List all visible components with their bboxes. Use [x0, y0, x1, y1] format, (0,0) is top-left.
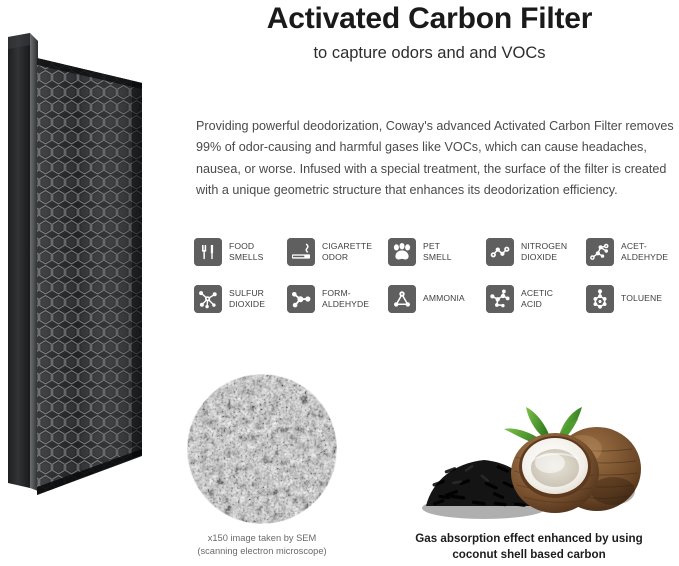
sem-caption: x150 image taken by SEM (scanning electr…: [179, 532, 345, 557]
pollutant-item-nitrogen-dioxide: NITROGEN DIOXIDE: [486, 238, 586, 266]
sem-micrograph-image: [186, 373, 338, 525]
pollutant-label: SULFUR DIOXIDE: [229, 288, 265, 311]
pollutant-item-cigarette-odor: CIGARETTE ODOR: [287, 238, 388, 266]
pollutant-grid: FOOD SMELLS CIGARETTE ODOR: [194, 238, 679, 332]
pollutant-label: TOLUENE: [621, 293, 662, 305]
acetaldehyde-molecule-icon: [586, 238, 614, 266]
pollutant-label: FOOD SMELLS: [229, 241, 264, 264]
pollutant-label: AMMONIA: [423, 293, 465, 305]
pollutant-item-acetaldehyde: ACET- ALDEHYDE: [586, 238, 679, 266]
page-title: Activated Carbon Filter: [180, 0, 679, 37]
coconut-caption: Gas absorption effect enhanced by using …: [398, 531, 660, 562]
pollutant-item-toluene: TOLUENE: [586, 285, 679, 313]
page-subtitle: to capture odors and and VOCs: [180, 37, 679, 64]
pollutant-label: FORM- ALDEHYDE: [322, 288, 369, 311]
headline-block: Activated Carbon Filter to capture odors…: [180, 0, 679, 64]
ammonia-molecule-icon: [388, 285, 416, 313]
formaldehyde-molecule-icon: [287, 285, 315, 313]
nitrogen-dioxide-molecule-icon: [486, 238, 514, 266]
paw-icon: [388, 238, 416, 266]
cigarette-icon: [287, 238, 315, 266]
pollutant-item-acetic-acid: ACETIC ACID: [486, 285, 586, 313]
pollutant-label: ACET- ALDEHYDE: [621, 241, 668, 264]
pollutant-label: PET SMELL: [423, 241, 452, 264]
coconut-carbon-image: [398, 405, 660, 523]
pollutant-row: FOOD SMELLS CIGARETTE ODOR: [194, 238, 679, 285]
pollutant-label: NITROGEN DIOXIDE: [521, 241, 567, 264]
cutlery-icon: [194, 238, 222, 266]
honeycomb-filter-illustration: [0, 25, 175, 495]
toluene-molecule-icon: [586, 285, 614, 313]
pollutant-item-sulfur-dioxide: SULFUR DIOXIDE: [194, 285, 287, 313]
pollutant-item-formaldehyde: FORM- ALDEHYDE: [287, 285, 388, 313]
sem-figure: x150 image taken by SEM (scanning electr…: [186, 373, 340, 557]
description-paragraph: Providing powerful deodorization, Coway'…: [196, 116, 679, 202]
pollutant-item-food-smells: FOOD SMELLS: [194, 238, 287, 266]
pollutant-row: SULFUR DIOXIDE: [194, 285, 679, 332]
coconut-figure: Gas absorption effect enhanced by using …: [398, 405, 660, 562]
pollutant-label: CIGARETTE ODOR: [322, 241, 372, 264]
product-filter-image: [0, 25, 175, 495]
coconut-half: [511, 433, 599, 513]
pollutant-item-ammonia: AMMONIA: [388, 285, 486, 313]
sulfur-dioxide-molecule-icon: [194, 285, 222, 313]
pollutant-item-pet-smell: PET SMELL: [388, 238, 486, 266]
acetic-acid-molecule-icon: [486, 285, 514, 313]
pollutant-label: ACETIC ACID: [521, 288, 553, 311]
